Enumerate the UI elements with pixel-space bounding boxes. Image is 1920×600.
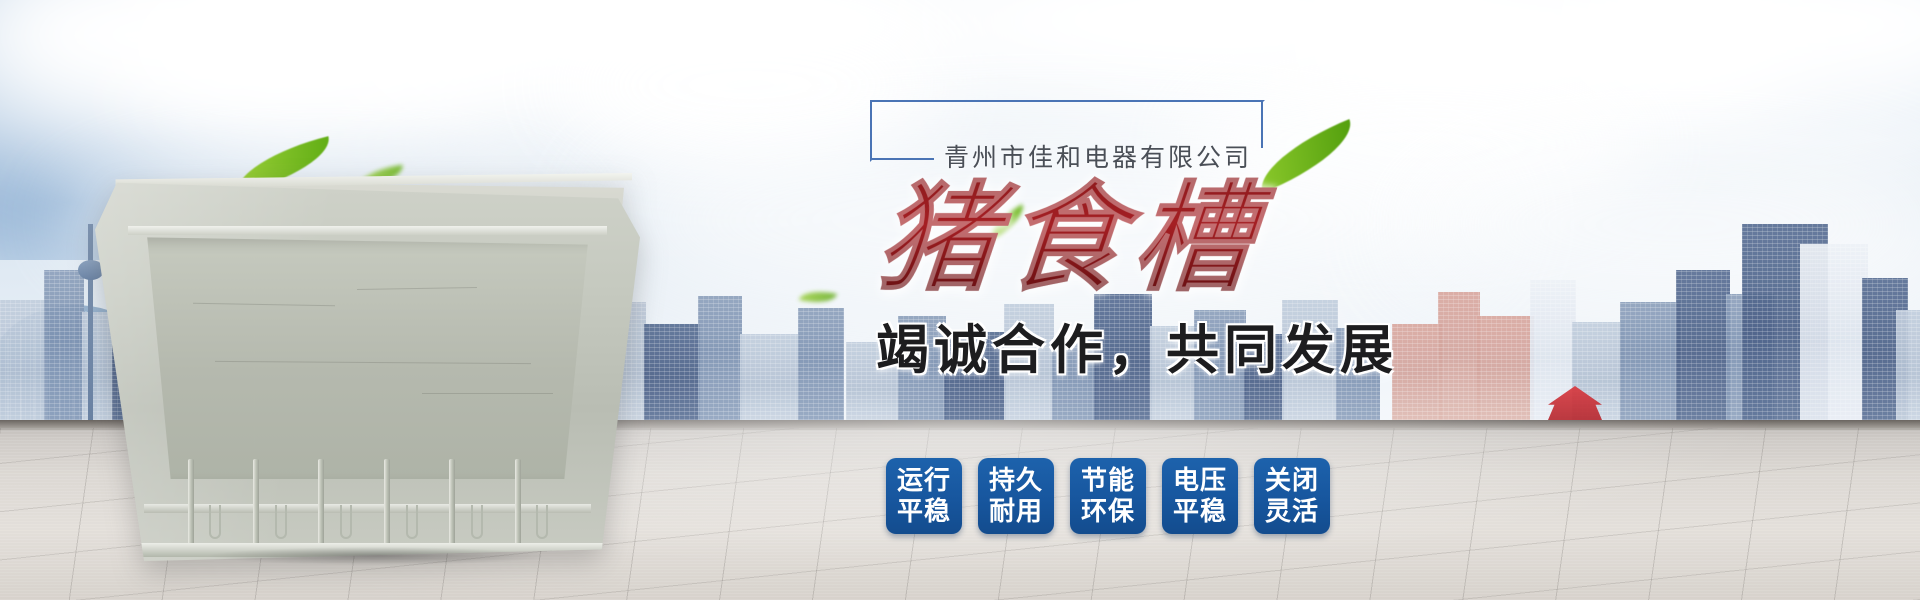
building — [0, 300, 46, 420]
feature-badge-line2: 耐用 — [989, 496, 1043, 527]
trough-inner-wall — [133, 237, 602, 479]
building — [798, 308, 844, 420]
trough-divider — [188, 459, 194, 545]
drinking-nipple — [275, 505, 287, 539]
trough-divider — [449, 459, 455, 545]
drinking-nipple — [471, 505, 483, 539]
trough-divider — [253, 459, 259, 545]
surface-scratch — [422, 393, 553, 394]
feature-badge[interactable]: 运行 平稳 — [886, 458, 962, 534]
building — [1800, 244, 1868, 420]
frame-bottom-segment — [872, 158, 934, 160]
trough-body — [95, 175, 640, 565]
tv-tower — [88, 224, 93, 420]
trough-inner-lip — [128, 226, 608, 235]
product-image-pig-feeder-trough — [95, 165, 640, 565]
building — [44, 270, 84, 420]
feature-badge-line1: 持久 — [989, 465, 1043, 496]
feature-badge[interactable]: 节能 环保 — [1070, 458, 1146, 534]
feature-badge-line2: 灵活 — [1265, 496, 1319, 527]
building — [1438, 292, 1480, 420]
drinking-nipple — [536, 505, 548, 539]
promo-banner: 青州市佳和电器有限公司 猪食槽 竭诚合作，共同发展 运行 平稳 持久 耐用 节能… — [0, 0, 1920, 600]
building — [1676, 270, 1730, 420]
building — [1620, 302, 1680, 420]
feature-badge-line2: 平稳 — [897, 496, 951, 527]
drinking-nipple — [340, 505, 352, 539]
building — [698, 296, 742, 420]
frame-right-segment — [1261, 102, 1263, 148]
company-name-frame: 青州市佳和电器有限公司 — [870, 100, 1265, 162]
trough-divider — [384, 459, 390, 545]
drinking-nipple — [406, 505, 418, 539]
feature-badge-line1: 关闭 — [1265, 465, 1319, 496]
product-shadow — [135, 543, 615, 569]
trough-divider — [318, 459, 324, 545]
feature-badge[interactable]: 持久 耐用 — [978, 458, 1054, 534]
feature-badge-line1: 节能 — [1081, 465, 1135, 496]
feature-badge-line2: 平稳 — [1173, 496, 1227, 527]
feature-badge[interactable]: 关闭 灵活 — [1254, 458, 1330, 534]
building — [740, 334, 800, 420]
subtitle-slogan: 竭诚合作，共同发展 — [876, 308, 1420, 384]
headline-block: 青州市佳和电器有限公司 猪食槽 竭诚合作，共同发展 — [860, 100, 1420, 384]
building — [1476, 316, 1534, 420]
drinking-nipple — [209, 505, 221, 539]
trough-divider — [515, 459, 521, 545]
feature-badge-line1: 电压 — [1173, 465, 1227, 496]
building — [644, 324, 700, 420]
feature-badge[interactable]: 电压 平稳 — [1162, 458, 1238, 534]
building — [1896, 310, 1920, 420]
feature-badge-list: 运行 平稳 持久 耐用 节能 环保 电压 平稳 关闭 灵活 — [886, 458, 1330, 534]
page-title: 猪食槽 — [872, 174, 1426, 306]
feature-badge-line1: 运行 — [897, 465, 951, 496]
feature-badge-line2: 环保 — [1081, 496, 1135, 527]
company-name: 青州市佳和电器有限公司 — [944, 138, 1252, 174]
